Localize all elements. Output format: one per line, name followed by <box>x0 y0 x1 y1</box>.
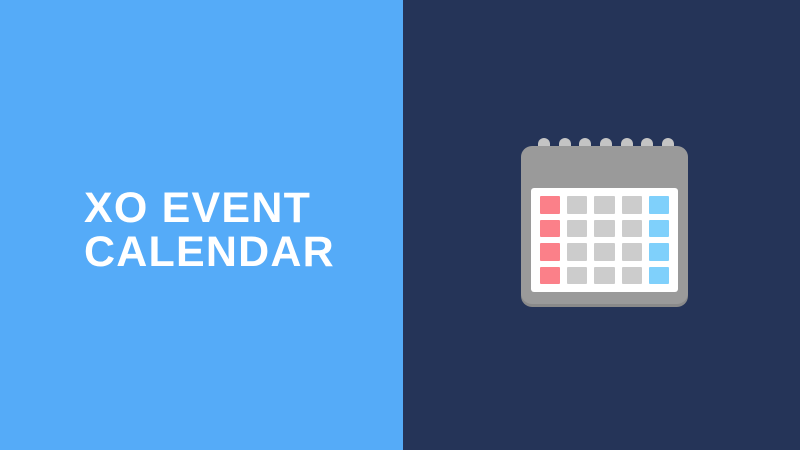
calendar-day-cell <box>622 220 642 238</box>
page-title-line-1: XO EVENT <box>84 186 384 230</box>
calendar-day-cell <box>622 267 642 285</box>
calendar-day-grid <box>540 196 669 284</box>
calendar-day-cell <box>622 243 642 261</box>
calendar-day-cell <box>594 196 614 214</box>
calendar-day-cell <box>540 196 560 214</box>
right-icon-panel <box>403 0 800 450</box>
left-title-panel: XO EVENT CALENDAR <box>0 0 403 450</box>
calendar-day-cell <box>594 267 614 285</box>
calendar-day-cell <box>649 243 669 261</box>
page-title: XO EVENT CALENDAR <box>84 186 384 274</box>
calendar-day-cell <box>622 196 642 214</box>
calendar-day-cell <box>594 220 614 238</box>
calendar-day-cell <box>594 243 614 261</box>
calendar-icon <box>521 146 688 304</box>
calendar-day-cell <box>540 267 560 285</box>
calendar-day-cell <box>567 196 587 214</box>
calendar-day-cell <box>540 243 560 261</box>
calendar-day-cell <box>649 220 669 238</box>
page-title-line-2: CALENDAR <box>84 230 384 274</box>
calendar-day-cell <box>567 220 587 238</box>
calendar-day-cell <box>567 243 587 261</box>
calendar-day-cell <box>649 196 669 214</box>
calendar-sheet <box>531 188 678 292</box>
calendar-day-cell <box>567 267 587 285</box>
calendar-day-cell <box>540 220 560 238</box>
slide-canvas: XO EVENT CALENDAR <box>0 0 800 450</box>
calendar-day-cell <box>649 267 669 285</box>
